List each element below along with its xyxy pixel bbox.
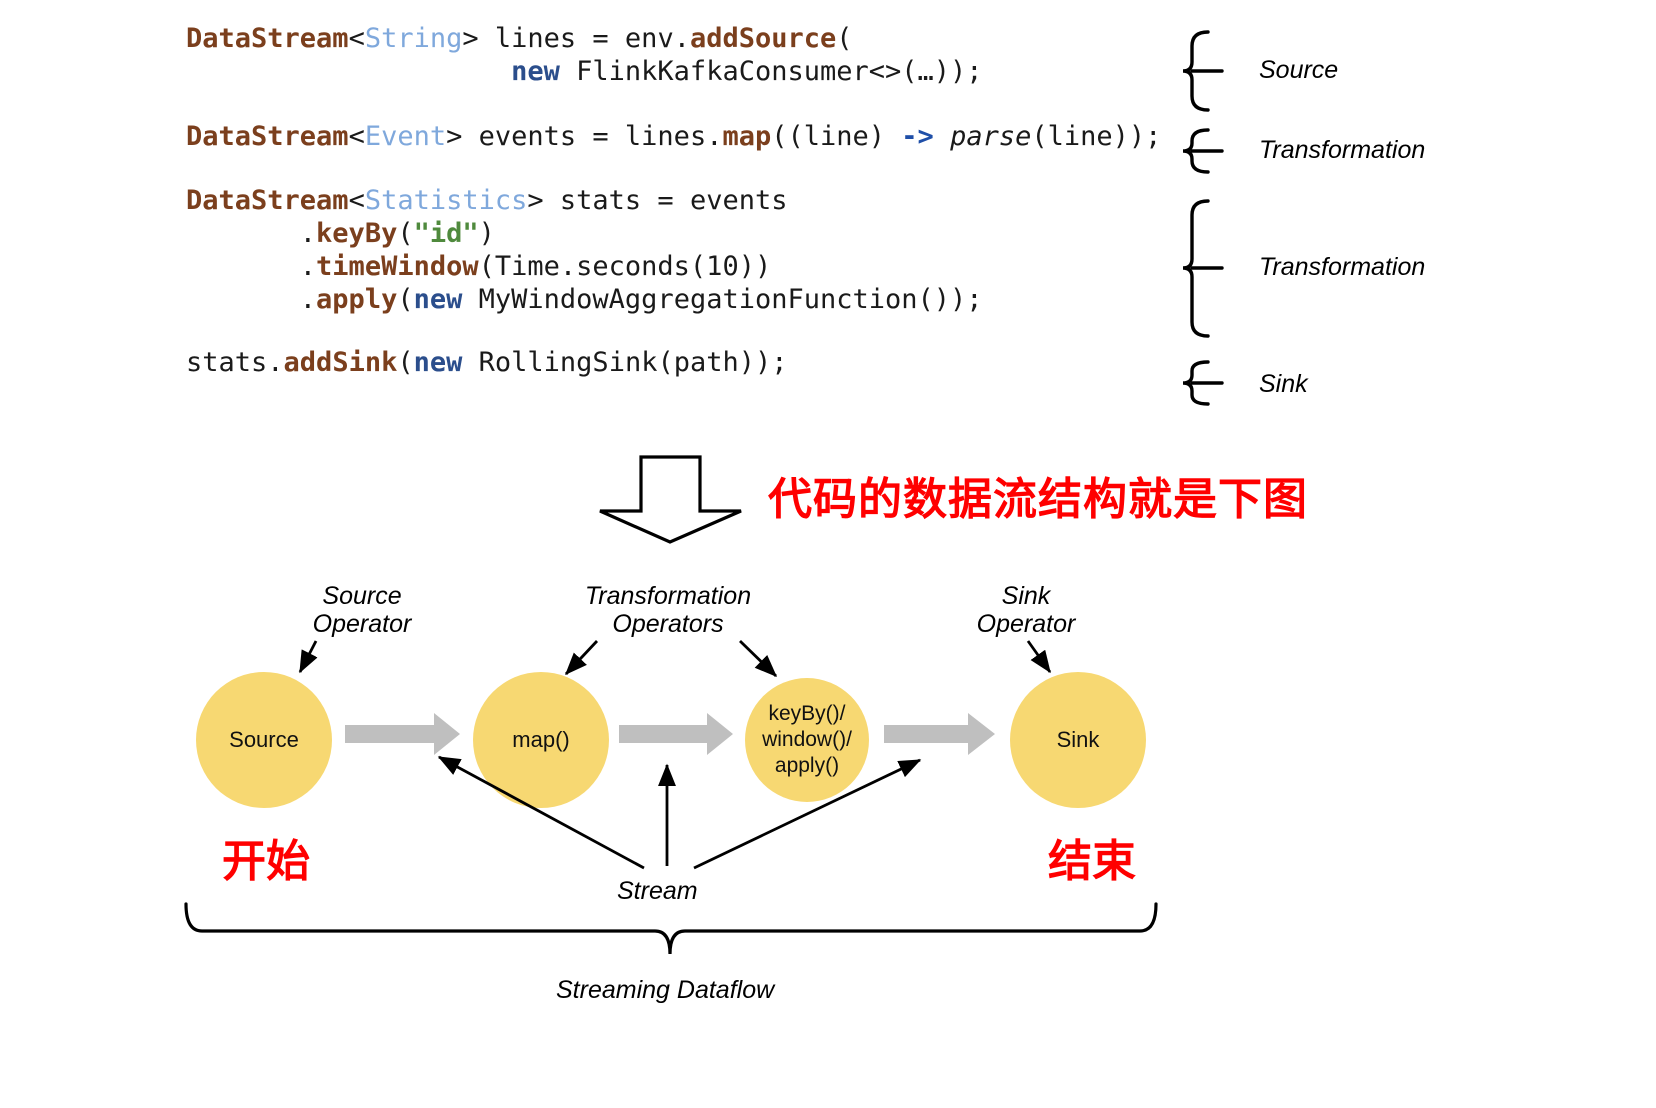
label-start-chinese: 开始 [222,825,310,889]
node-map-label: map() [512,726,569,754]
label-source-operator: Source Operator [302,583,422,638]
code-line: DataStream<Statistics> stats = events [186,184,1196,217]
flow-arrow-source-to-map [345,713,460,755]
code-line: new FlinkKafkaConsumer<>(…)); [186,55,1196,88]
brace-label-transformation-2: Transformation [1259,253,1425,282]
label-stream: Stream [617,877,698,906]
label-end-chinese: 结束 [1048,825,1136,889]
node-sink-label: Sink [1057,726,1100,754]
brace-streaming-dataflow [186,904,1156,954]
code-block-transformation-2: DataStream<Statistics> stats = events .k… [186,184,1196,316]
code-line: stats.addSink(new RollingSink(path)); [186,346,1196,379]
node-map[interactable]: map() [473,672,609,808]
node-source-label: Source [229,726,299,754]
code-block-source: DataStream<String> lines = env.addSource… [186,22,1196,88]
brace-label-source: Source [1259,56,1338,85]
label-streaming-dataflow: Streaming Dataflow [556,976,774,1005]
code-block-sink: stats.addSink(new RollingSink(path)); [186,346,1196,379]
code-line: .keyBy("id") [186,217,1196,250]
node-keyby-window-apply-label: keyBy()/ window()/ apply() [762,701,852,780]
code-line: .apply(new MyWindowAggregationFunction()… [186,283,1196,316]
code-line: .timeWindow(Time.seconds(10)) [186,250,1196,283]
node-keyby-window-apply[interactable]: keyBy()/ window()/ apply() [745,678,869,802]
down-arrow-icon [600,457,741,542]
pointer-arrow-transformation-right [740,641,776,676]
code-block-transformation-1: DataStream<Event> events = lines.map((li… [186,120,1196,153]
code-snippet: DataStream<String> lines = env.addSource… [186,22,1196,379]
brace-label-transformation-1: Transformation [1259,136,1425,165]
node-sink[interactable]: Sink [1010,672,1146,808]
chinese-caption: 代码的数据流结构就是下图 [768,463,1308,527]
pointer-arrow-source-operator [300,641,316,672]
code-line: DataStream<Event> events = lines.map((li… [186,120,1196,153]
node-source[interactable]: Source [196,672,332,808]
flow-arrow-map-to-keyby [619,713,733,755]
flow-arrow-keyby-to-sink [884,713,995,755]
pointer-arrow-transformation-left [566,641,597,674]
brace-label-sink: Sink [1259,370,1308,399]
pointer-arrow-sink-operator [1028,641,1050,672]
code-line: DataStream<String> lines = env.addSource… [186,22,1196,55]
label-sink-operator: Sink Operator [966,583,1086,638]
label-transformation-operators: Transformation Operators [575,583,761,638]
